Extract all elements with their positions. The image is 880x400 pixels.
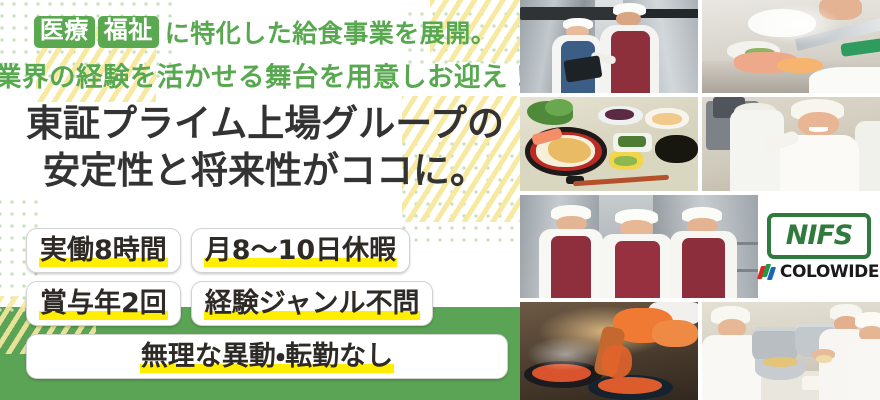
feature-pill-work-hours: 実働8時間 bbox=[26, 228, 181, 273]
feature-pill-bonus-label: 賞与年2回 bbox=[40, 290, 167, 317]
photo-staff-preparing-vegetables bbox=[702, 302, 880, 400]
photo-kitchen-staff-with-tablet bbox=[520, 0, 698, 93]
feature-pill-work-hours-label: 実働8時間 bbox=[40, 237, 167, 264]
lead-line-1-rest: に特化した給食事業を展開。 bbox=[165, 14, 497, 50]
feature-pill-no-transfer: 無理な異動・転勤なし bbox=[26, 334, 508, 379]
feature-pill-experience-label: 経験ジャンル不問 bbox=[205, 290, 420, 317]
lead-copy: 医療 福祉 に特化した給食事業を展開。 業界の経験を活かせる舞台を用意しお迎え！ bbox=[0, 0, 530, 94]
photo-smiling-kitchen-worker bbox=[702, 97, 880, 191]
headline-line-1: 東証プライム上場グループの bbox=[0, 100, 530, 147]
headline: 東証プライム上場グループの 安定性と将来性がココに。 bbox=[0, 100, 530, 194]
feature-pill-days-off-label: 月8〜10日休暇 bbox=[205, 237, 396, 264]
photo-food-plating-prep bbox=[702, 0, 880, 93]
feature-pill-experience: 経験ジャンル不問 bbox=[191, 281, 434, 326]
photo-mosaic: NIFS COLOWIDE bbox=[520, 0, 880, 400]
tag-welfare: 福祉 bbox=[98, 16, 159, 48]
photo-wok-cooking-with-gloves bbox=[520, 302, 698, 400]
lead-line-1: 医療 福祉 に特化した給食事業を展開。 bbox=[0, 10, 530, 54]
lead-line-2: 業界の経験を活かせる舞台を用意しお迎え！ bbox=[0, 54, 530, 94]
feature-pill-list: 実働8時間 月8〜10日休暇 賞与年2回 経験ジャンル不問 無理な異動・転勤なし bbox=[26, 228, 508, 387]
headline-line-2: 安定性と将来性がココに。 bbox=[0, 147, 530, 194]
feature-pill-row-1: 実働8時間 月8〜10日休暇 bbox=[26, 228, 508, 273]
feature-pill-row-2: 賞与年2回 経験ジャンル不問 bbox=[26, 281, 508, 326]
feature-pill-bonus: 賞与年2回 bbox=[26, 281, 181, 326]
photo-three-staff-in-aprons bbox=[520, 195, 758, 298]
feature-pill-row-3: 無理な異動・転勤なし bbox=[26, 334, 508, 379]
logo-block: NIFS COLOWIDE bbox=[758, 195, 880, 298]
colowide-mark-icon bbox=[759, 264, 776, 281]
colowide-logo: COLOWIDE bbox=[759, 264, 879, 281]
photo-japanese-meal-tray bbox=[520, 97, 698, 191]
feature-pill-days-off: 月8〜10日休暇 bbox=[191, 228, 410, 273]
nifs-logo: NIFS bbox=[767, 213, 871, 259]
job-ad-banner: 医療 福祉 に特化した給食事業を展開。 業界の経験を活かせる舞台を用意しお迎え！… bbox=[0, 0, 880, 400]
nifs-logo-text: NIFS bbox=[786, 222, 853, 249]
copy-panel: 医療 福祉 に特化した給食事業を展開。 業界の経験を活かせる舞台を用意しお迎え！… bbox=[0, 0, 530, 400]
tag-medical: 医療 bbox=[34, 16, 95, 48]
feature-pill-no-transfer-label: 無理な異動・転勤なし bbox=[141, 343, 393, 370]
colowide-logo-text: COLOWIDE bbox=[780, 264, 879, 281]
